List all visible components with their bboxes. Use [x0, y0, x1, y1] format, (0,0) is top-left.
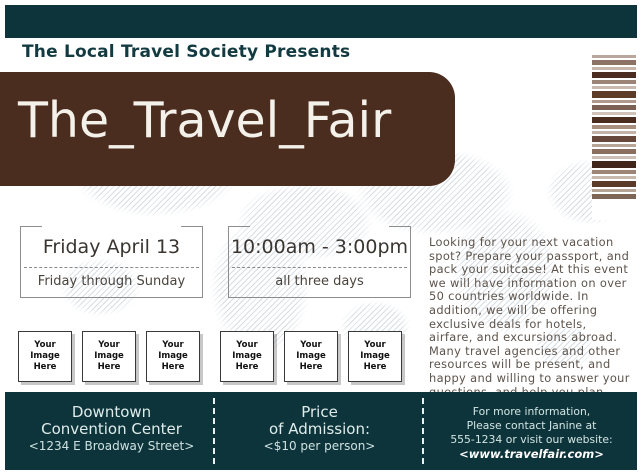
footer-contact-column: For more information, Please contact Jan…: [426, 392, 637, 461]
corner-bracket-top-left: [228, 226, 250, 227]
date-secondary: Friday through Sunday: [20, 274, 203, 289]
corner-bracket-top-left: [20, 226, 42, 227]
barcode-bar: [592, 199, 636, 202]
footer-venue-column: Downtown Convention Center <1234 E Broad…: [10, 392, 213, 454]
contact-line-3: 555-1234 or visit our website:: [426, 433, 637, 447]
image-placeholder-label: Your Image Here: [94, 340, 124, 373]
venue-line-1: Downtown: [10, 404, 213, 421]
image-placeholder-label: Your Image Here: [360, 340, 390, 373]
travel-fair-poster: The Local Travel Society Presents The_Tr…: [0, 0, 642, 475]
time-box-divider: [232, 267, 407, 268]
barcode-icon: [592, 55, 636, 220]
image-placeholder-label: Your Image Here: [30, 340, 60, 373]
barcode-bar: [592, 161, 636, 168]
corner-bracket-top-right: [389, 226, 411, 227]
time-secondary: all three days: [228, 274, 411, 289]
contact-line-1: For more information,: [426, 405, 637, 419]
contact-line-2: Please contact Janine at: [426, 419, 637, 433]
image-placeholder[interactable]: Your Image Here: [220, 331, 274, 382]
footer-divider-1: [213, 398, 215, 464]
image-placeholder[interactable]: Your Image Here: [146, 331, 200, 382]
image-placeholder-label: Your Image Here: [158, 340, 188, 373]
footer-price-column: Price of Admission: <$10 per person>: [217, 392, 422, 454]
image-placeholder[interactable]: Your Image Here: [82, 331, 136, 382]
footer-bar: Downtown Convention Center <1234 E Broad…: [5, 392, 637, 470]
footer-divider-2: [422, 398, 424, 464]
image-placeholder[interactable]: Your Image Here: [348, 331, 402, 382]
date-box-divider: [24, 267, 199, 268]
contact-website[interactable]: <www.travelfair.com>: [426, 447, 637, 461]
date-box: Friday April 13 Friday through Sunday: [20, 220, 203, 298]
event-description: Looking for your next vacation spot? Pre…: [429, 236, 633, 413]
box-edge-bottom: [20, 297, 203, 298]
image-placeholder-label: Your Image Here: [296, 340, 326, 373]
price-line-2: of Admission:: [217, 421, 422, 438]
image-placeholder[interactable]: Your Image Here: [284, 331, 338, 382]
corner-bracket-top-right: [181, 226, 203, 227]
barcode-bar: [592, 91, 636, 98]
box-edge-bottom: [228, 297, 411, 298]
image-placeholder[interactable]: Your Image Here: [18, 331, 72, 382]
presenter-line: The Local Travel Society Presents: [22, 42, 350, 62]
price-line-1: Price: [217, 404, 422, 421]
event-title: The_Travel_Fair: [18, 96, 391, 145]
price-amount: <$10 per person>: [217, 438, 422, 454]
image-placeholder-label: Your Image Here: [232, 340, 262, 373]
top-accent-bar: [5, 5, 637, 38]
venue-address: <1234 E Broadway Street>: [10, 438, 213, 454]
date-primary: Friday April 13: [20, 236, 203, 258]
time-primary: 10:00am - 3:00pm: [228, 236, 411, 258]
venue-line-2: Convention Center: [10, 421, 213, 438]
time-box: 10:00am - 3:00pm all three days: [228, 220, 411, 298]
image-placeholder-strip: Your Image HereYour Image HereYour Image…: [18, 331, 418, 387]
